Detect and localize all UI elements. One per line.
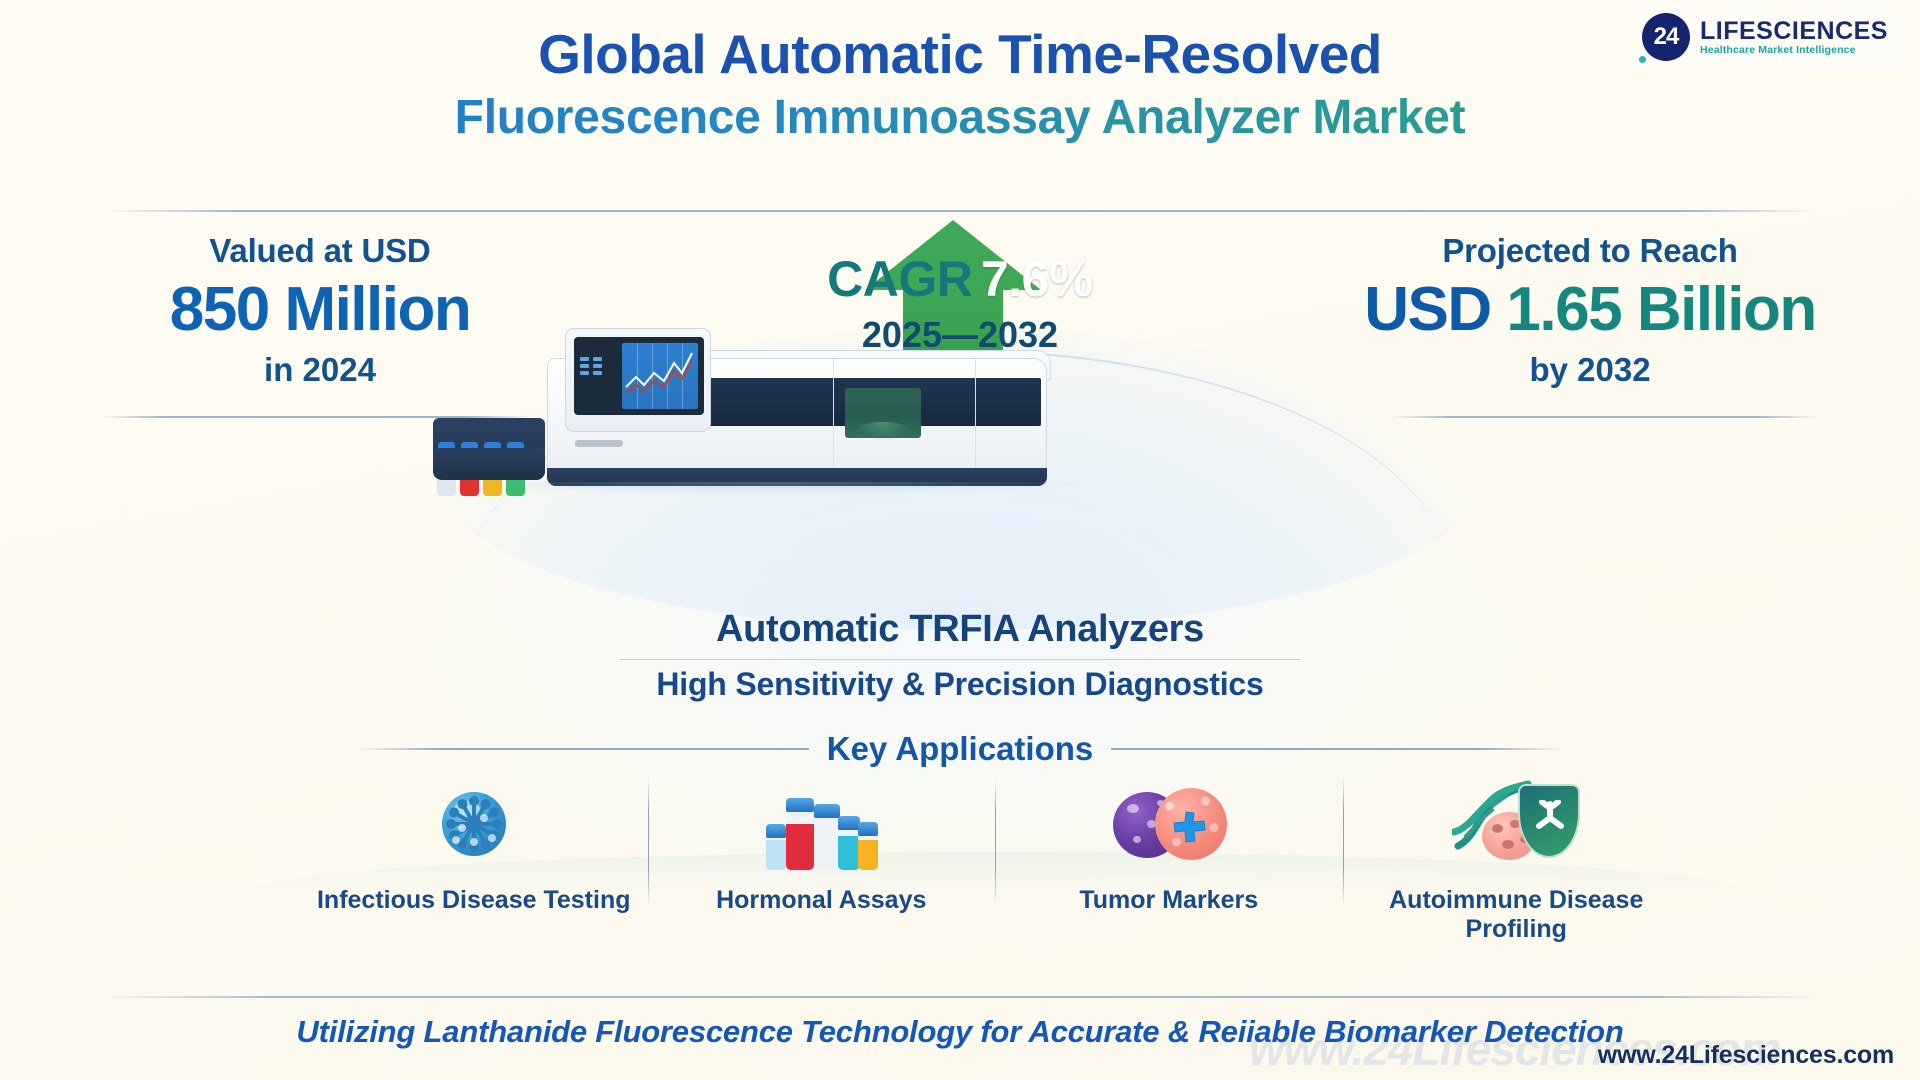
analyzer-shadow [455,482,1095,496]
vial-rack-front [433,448,545,480]
caption-divider [620,659,1300,660]
applications-row: Infectious Disease Testing [300,770,1690,944]
title-line-2: Fluorescence Immunoassay Analyzer Market [0,90,1920,145]
analyzer-seam-1 [833,358,834,482]
stat-right-currency: USD [1364,275,1490,344]
analyzer-illustration [415,330,1155,510]
key-applications-rule-right [1111,748,1566,750]
shield-icon [1518,784,1580,858]
stat-projected-value: Projected to Reach USD 1.65 Billion by 2… [1310,232,1870,389]
application-label: Infectious Disease Testing [300,886,648,915]
analyzer-monitor [565,328,711,432]
infographic-canvas: 24 LIFESCIENCES Healthcare Market Intell… [0,0,1920,1080]
title-divider [104,210,1816,212]
analyzer-subcaption: High Sensitivity & Precision Diagnostics [0,666,1920,703]
virus-icon [300,770,648,870]
vial-red [786,798,814,870]
application-label: Tumor Markers [995,886,1343,915]
vial-white [814,804,840,870]
key-applications-header: Key Applications [0,730,1920,768]
vials-icon [648,770,996,870]
dna-shield-icon [1343,770,1691,870]
application-label: Hormonal Assays [648,886,996,915]
application-item-autoimmune[interactable]: Autoimmune Disease Profiling [1343,770,1691,944]
application-item-hormonal-assays[interactable]: Hormonal Assays [648,770,996,944]
cagr-label: CAGR [827,251,972,307]
footer-url[interactable]: www.24Lifesciences.com [1598,1041,1894,1070]
page-title: Global Automatic Time-Resolved Fluoresce… [0,22,1920,145]
cagr-period: 2025—2032 [700,314,1220,356]
screen-buttons [580,357,602,375]
stat-right-value: 1.65 [1506,275,1621,344]
analyzer-caption-block: Automatic TRFIA Analyzers High Sensitivi… [0,608,1920,703]
stat-left-label: Valued at USD [60,232,580,270]
cagr-block: CAGR 7.6% 2025—2032 [700,250,1220,356]
screen-chart-icon [622,343,698,409]
application-item-infectious-disease[interactable]: Infectious Disease Testing [300,770,648,944]
analyzer-slot [575,440,623,447]
vial-amber [858,822,878,870]
stat-right-unit: Billion [1637,275,1816,344]
vial-cyan [838,816,860,870]
analyzer-screen [574,337,704,415]
analyzer-caption: Automatic TRFIA Analyzers [0,608,1920,651]
analyzer-sample-tray [845,388,921,438]
footer-divider [100,996,1820,998]
stat-right-divider [1390,416,1820,418]
stat-right-sub: by 2032 [1310,351,1870,389]
key-applications-rule-left [354,748,809,750]
application-label: Autoimmune Disease Profiling [1343,886,1691,944]
key-applications-title: Key Applications [827,730,1094,768]
analyzer-seam-2 [975,358,976,482]
vial-blue [766,824,786,870]
cagr-value: 7.6% [981,251,1093,307]
application-item-tumor-markers[interactable]: Tumor Markers [995,770,1343,944]
title-line-1: Global Automatic Time-Resolved [0,22,1920,86]
stat-right-label: Projected to Reach [1310,232,1870,270]
stat-left-value: 850 [170,275,269,344]
tumor-cells-icon [995,770,1343,870]
